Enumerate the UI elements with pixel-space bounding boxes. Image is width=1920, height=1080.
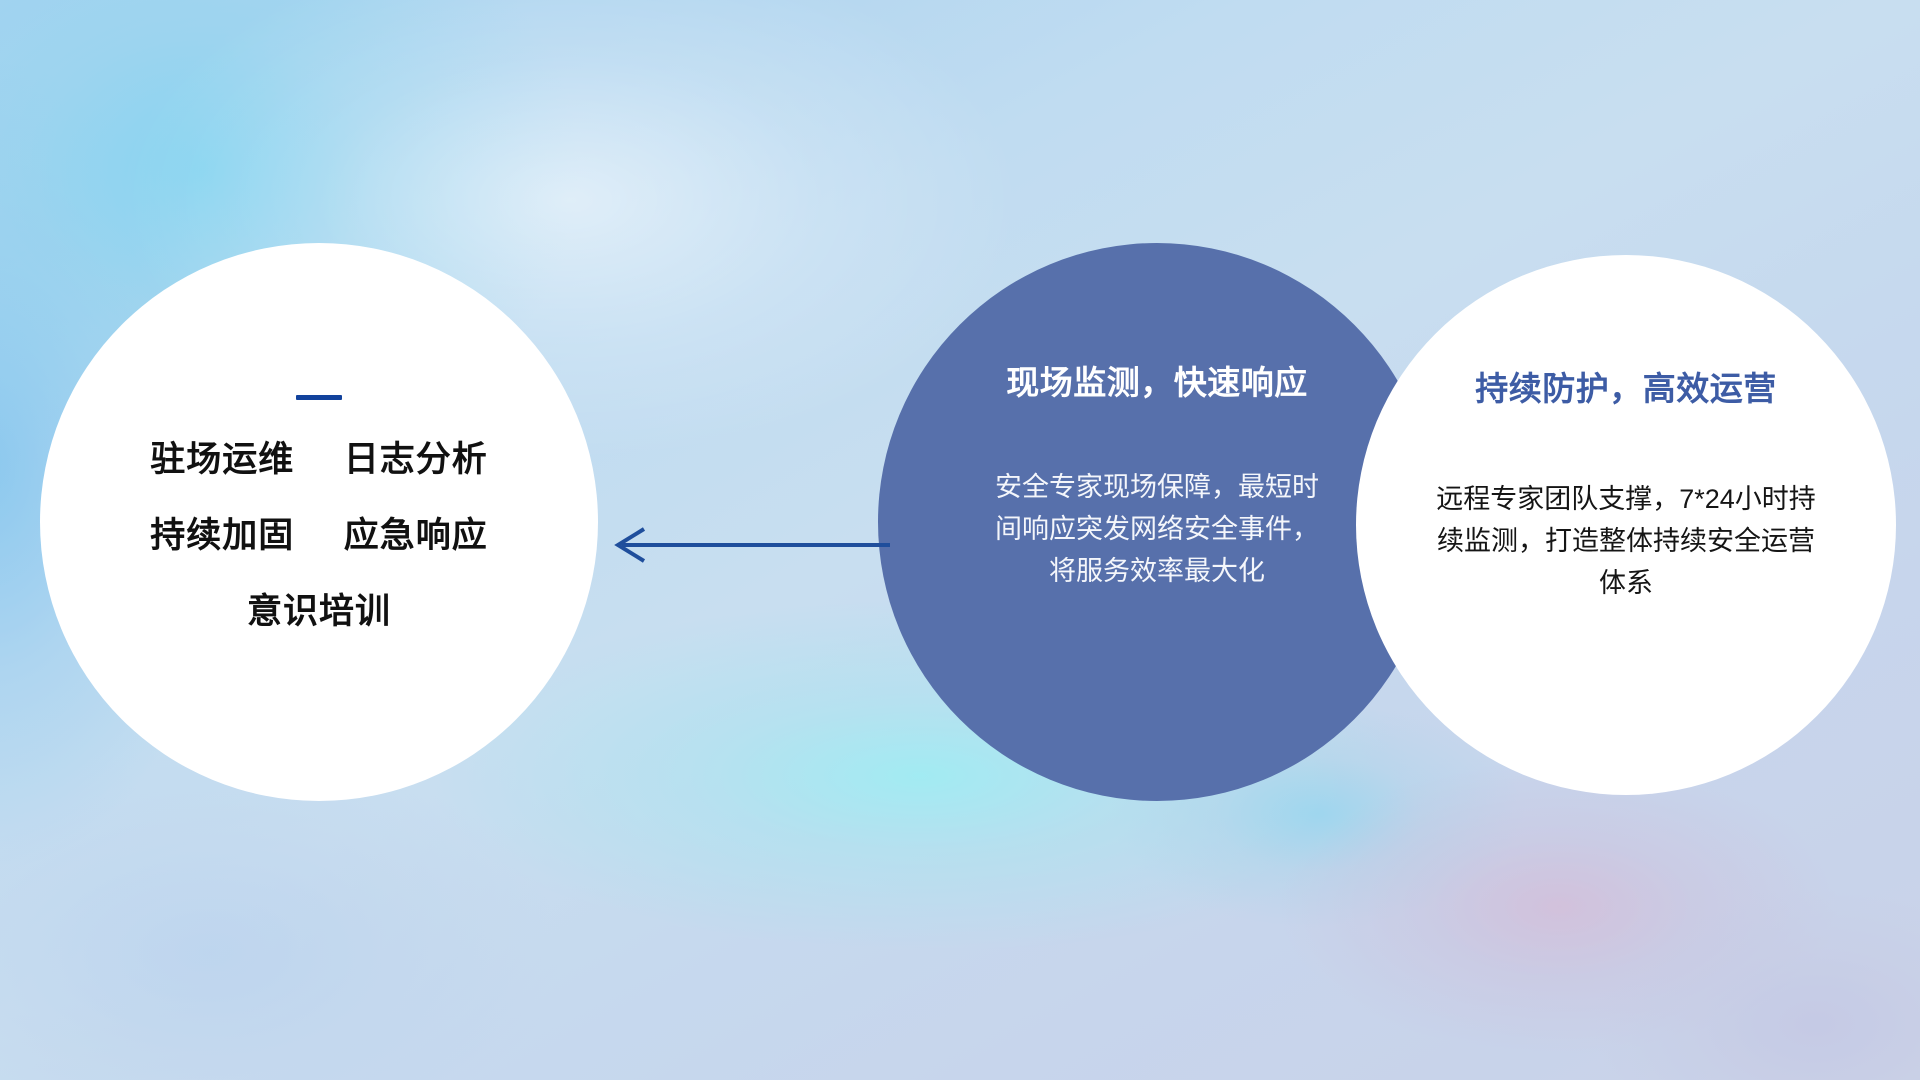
onsite-monitoring-body: 安全专家现场保障，最短时间响应突发网络安全事件，将服务效率最大化 [987,467,1327,593]
onsite-monitoring-content: 现场监测，快速响应 安全专家现场保障，最短时间响应突发网络安全事件，将服务效率最… [878,365,1436,593]
continuous-protection-title: 持续防护，高效运营 [1376,371,1876,407]
continuous-protection-body: 远程专家团队支撑，7*24小时持续监测，打造整体持续安全运营体系 [1426,479,1826,605]
onsite-monitoring-circle[interactable]: 现场监测，快速响应 安全专家现场保障，最短时间响应突发网络安全事件，将服务效率最… [878,243,1436,801]
continuous-protection-circle[interactable]: 持续防护，高效运营 远程专家团队支撑，7*24小时持续监测，打造整体持续安全运营… [1356,255,1896,795]
capability-row-2: 持续加固 应急响应 [40,518,598,553]
capability-label-continuous-hardening: 持续加固 [150,516,294,555]
capability-row-3: 意识培训 [40,594,598,629]
background-lavender-glow-corner [1480,820,1920,1080]
continuous-protection-content: 持续防护，高效运营 远程专家团队支撑，7*24小时持续监测，打造整体持续安全运营… [1356,371,1896,605]
slide-canvas: 驻场运维 日志分析 持续加固 应急响应 意识培训 现场监测，快速响应 安全专家现… [0,0,1920,1080]
capability-label-awareness-training: 意识培训 [247,592,391,631]
service-capabilities-circle[interactable]: 驻场运维 日志分析 持续加固 应急响应 意识培训 [40,243,598,801]
capability-label-onsite-ops: 驻场运维 [150,440,294,479]
capability-label-log-analysis: 日志分析 [344,440,488,479]
capability-row-1: 驻场运维 日志分析 [40,442,598,477]
service-capabilities-content: 驻场运维 日志分析 持续加固 应急响应 意识培训 [40,395,598,629]
connector-arrow [600,520,890,570]
arrow-left-icon [600,520,890,570]
onsite-monitoring-title: 现场监测，快速响应 [902,365,1412,401]
capability-label-emergency-response: 应急响应 [344,516,488,555]
accent-divider-bar [296,395,342,400]
